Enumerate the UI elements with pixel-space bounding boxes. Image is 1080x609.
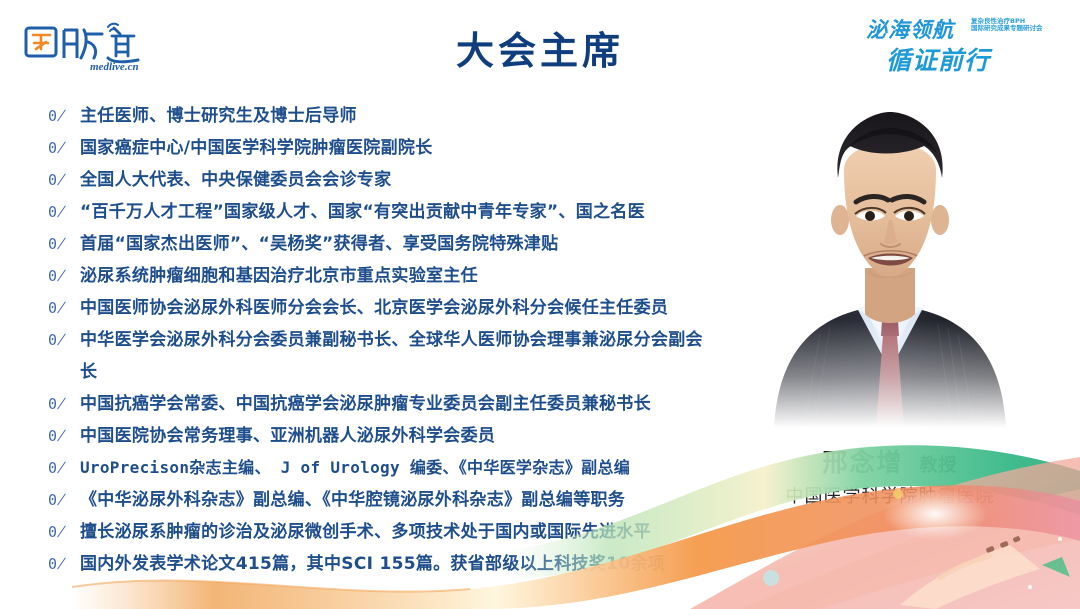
accent-triangle-green (1042, 557, 1070, 577)
bullet-marker-icon: 0̸ (48, 228, 80, 260)
credential-text: 主任医师、博士研究生及博士后导师 (80, 100, 688, 132)
speaker-title: 教授 (920, 455, 958, 476)
bullet-marker-icon: 0̸ (48, 452, 80, 484)
conference-brand: 泌海领航 复杂良性治疗BPH 国际研究成果专题研讨会 循证前行 (866, 12, 1062, 74)
credential-text: UroPrecison杂志主编、 J of Urology 编委、《中华医学杂志… (80, 452, 688, 484)
bullet-marker-icon: 0̸ (48, 100, 80, 132)
credential-text: 中国医院协会常务理事、亚洲机器人泌尿外科学会委员 (80, 420, 688, 452)
credential-item: 0̸中国抗癌学会常委、中国抗癌学会泌尿肿瘤专业委员会副主任委员兼秘书长 (48, 388, 688, 420)
credential-text: 擅长泌尿系肿瘤的诊治及泌尿微创手术、多项技术处于国内或国际先进水平 (80, 516, 688, 548)
ribbon-photo (690, 457, 1080, 609)
brand-subtitle: 复杂良性治疗BPH 国际研究成果专题研讨会 (971, 18, 1043, 32)
presentation-slide: medlive.cn 大会主席 泌海领航 复杂良性治疗BPH 国际研究成果专题研… (0, 0, 1080, 609)
credential-text: 《中华泌尿外科杂志》副总编、《中华腔镜泌尿外科杂志》副总编等职务 (80, 484, 688, 516)
credential-text: 中华医学会泌尿外科分会委员兼副秘书长、全球华人医师协会理事兼泌尿分会副会 (80, 324, 703, 356)
credential-item: 0̸主任医师、博士研究生及博士后导师 (48, 100, 688, 132)
credential-item: 0̸国家癌症中心/中国医学科学院肿瘤医院副院长 (48, 132, 688, 164)
brand-subtitle-line-2: 国际研究成果专题研讨会 (971, 25, 1043, 32)
credential-item: 0̸“百千万人才工程”国家级人才、国家“有突出贡献中青年专家”、国之名医 (48, 196, 688, 228)
bullet-marker-icon: 0̸ (48, 132, 80, 164)
credential-item: 0̸擅长泌尿系肿瘤的诊治及泌尿微创手术、多项技术处于国内或国际先进水平 (48, 516, 688, 548)
speaker-affiliation: 中国医学科学院肿瘤医院 (700, 482, 1080, 508)
credential-item: 0̸中国医师协会泌尿外科医师分会会长、北京医学会泌尿外科分会候任主任委员 (48, 292, 688, 324)
credential-text: 国内外发表学术论文415篇，其中SCI 155篇。获省部级以上科技奖10余项 (80, 548, 688, 580)
speaker-name-row: 邢念增教授 (700, 443, 1080, 479)
speaker-name: 邢念增 (822, 448, 903, 477)
credential-item: 0̸中国医院协会常务理事、亚洲机器人泌尿外科学会委员 (48, 420, 688, 452)
credential-item: 0̸中华医学会泌尿外科分会委员兼副秘书长、全球华人医师协会理事兼泌尿分会副会 (48, 324, 688, 356)
accent-dot-teal (763, 570, 779, 586)
bullet-marker-icon: 0̸ (48, 292, 80, 324)
brand-line-1: 泌海领航 (866, 14, 954, 44)
credential-item: 0̸国内外发表学术论文415篇，其中SCI 155篇。获省部级以上科技奖10余项 (48, 548, 688, 580)
bullet-marker-icon: 0̸ (48, 548, 80, 580)
portrait-image (752, 108, 1028, 428)
credential-item: 0̸《中华泌尿外科杂志》副总编、《中华腔镜泌尿外科杂志》副总编等职务 (48, 484, 688, 516)
bullet-marker-icon: 0̸ (48, 164, 80, 196)
speaker-portrait (752, 108, 1028, 428)
bullet-marker-icon: 0̸ (48, 516, 80, 548)
bullet-marker-icon: 0̸ (48, 324, 80, 356)
credential-text: 中国医师协会泌尿外科医师分会会长、北京医学会泌尿外科分会候任主任委员 (80, 292, 688, 324)
credentials-list: 0̸主任医师、博士研究生及博士后导师0̸国家癌症中心/中国医学科学院肿瘤医院副院… (48, 100, 688, 580)
brand-line-2: 循证前行 (886, 41, 990, 77)
credential-text: 首届“国家杰出医师”、“吴杨奖”获得者、享受国务院特殊津贴 (80, 228, 688, 260)
credential-text: 全国人大代表、中央保健委员会会诊专家 (80, 164, 688, 196)
credential-item: 0̸首届“国家杰出医师”、“吴杨奖”获得者、享受国务院特殊津贴 (48, 228, 688, 260)
credential-item-continuation: 0̸长 (48, 356, 688, 388)
bullet-marker-icon: 0̸ (48, 420, 80, 452)
bullet-marker-icon: 0̸ (48, 196, 80, 228)
bullet-marker-icon: 0̸ (48, 388, 80, 420)
credential-text: 泌尿系统肿瘤细胞和基因治疗北京市重点实验室主任 (80, 260, 688, 292)
credential-text: “百千万人才工程”国家级人才、国家“有突出贡献中青年专家”、国之名医 (80, 196, 688, 228)
credential-item: 0̸全国人大代表、中央保健委员会会诊专家 (48, 164, 688, 196)
credential-text: 中国抗癌学会常委、中国抗癌学会泌尿肿瘤专业委员会副主任委员兼秘书长 (80, 388, 688, 420)
credential-text: 国家癌症中心/中国医学科学院肿瘤医院副院长 (80, 132, 688, 164)
credential-text-continuation: 长 (80, 356, 688, 388)
credential-item: 0̸泌尿系统肿瘤细胞和基因治疗北京市重点实验室主任 (48, 260, 688, 292)
credential-item: 0̸UroPrecison杂志主编、 J of Urology 编委、《中华医学… (48, 452, 688, 484)
bullet-marker-icon: 0̸ (48, 484, 80, 516)
bullet-marker-icon: 0̸ (48, 260, 80, 292)
